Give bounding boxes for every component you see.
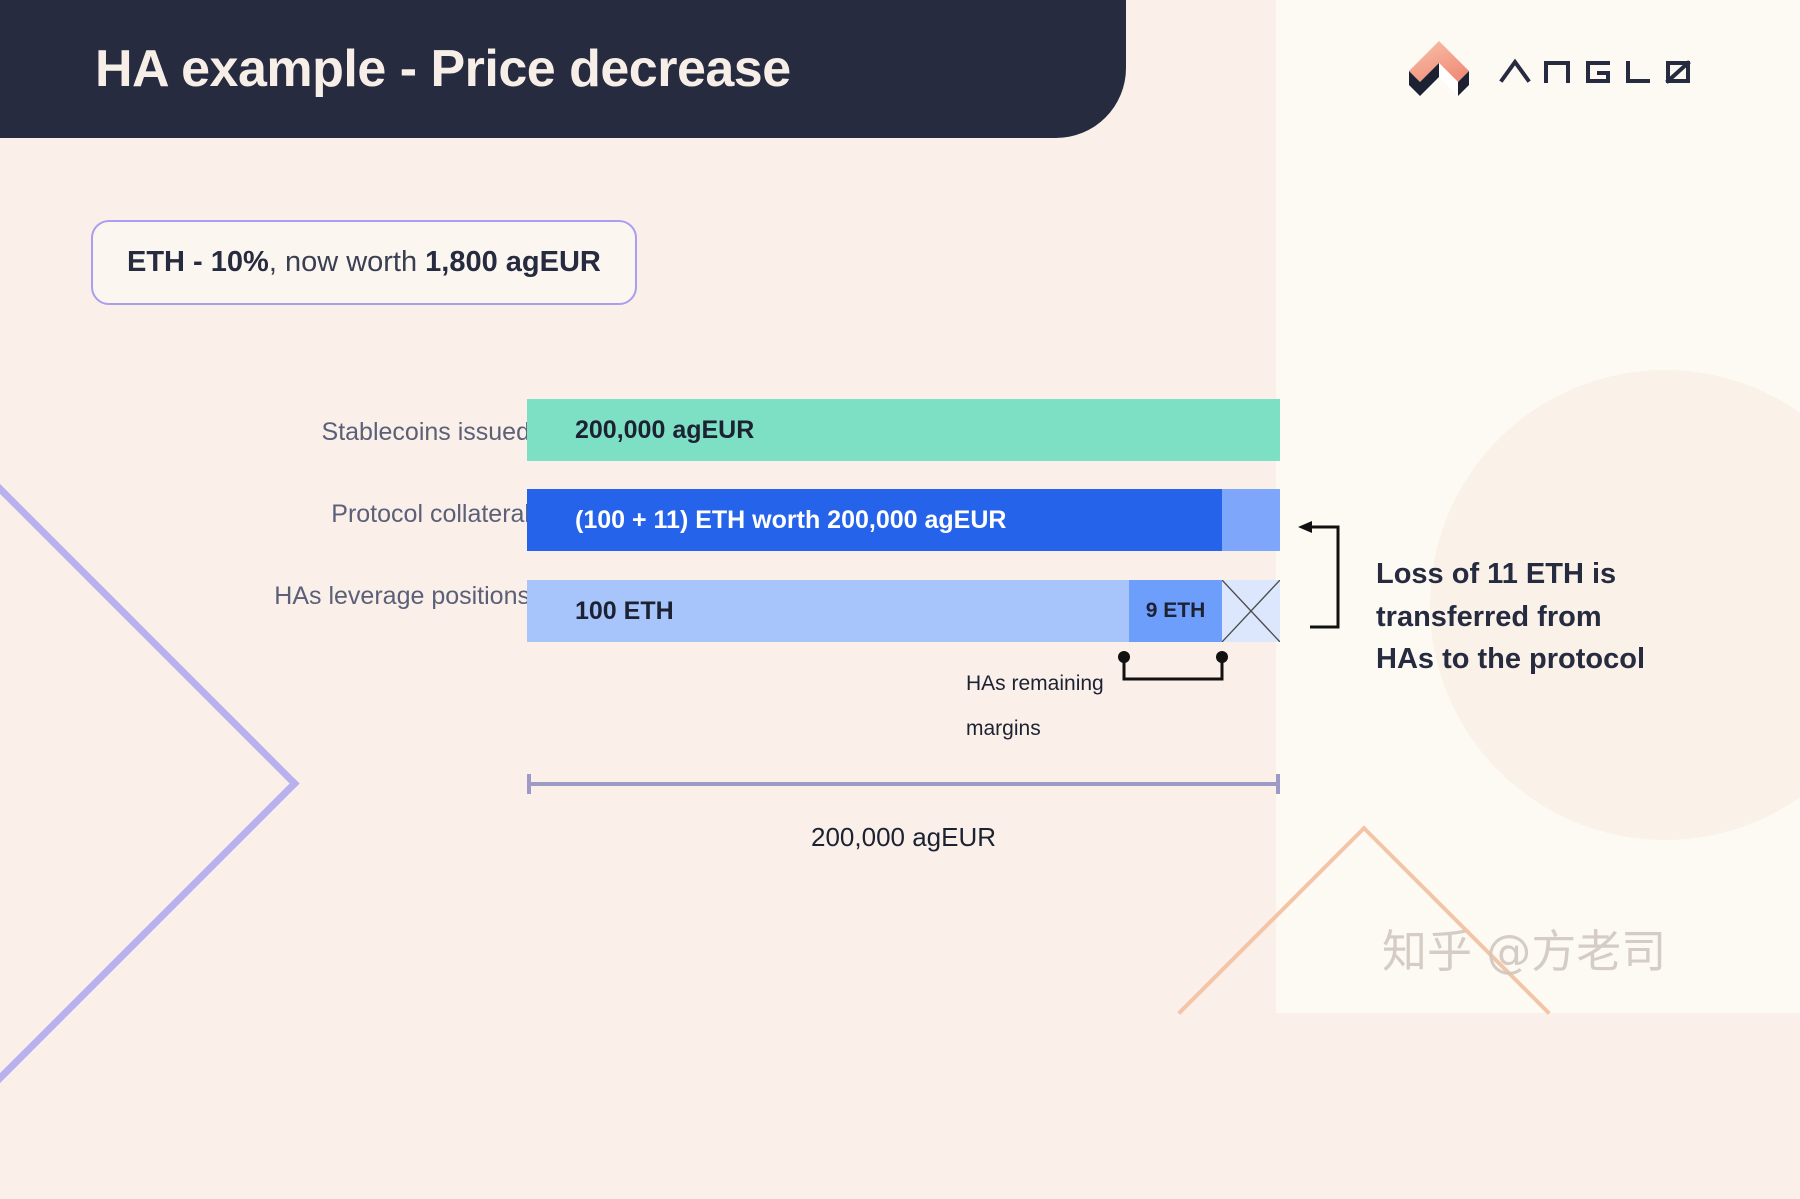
row-label-stablecoins-issued: Stablecoins issued — [200, 418, 530, 447]
annotation-line-1: HAs remaining — [966, 668, 1106, 699]
bar-protocol-collateral: (100 + 11) ETH worth 200,000 agEUR — [527, 489, 1280, 551]
transfer-note-line-3: HAs to the protocol — [1376, 638, 1726, 681]
bar-value-has-leverage-positions: 100 ETH — [575, 597, 674, 626]
transfer-note-line-1: Loss of 11 ETH is — [1376, 553, 1726, 596]
annotation-has-remaining-margins: HAs remaining margins — [966, 668, 1106, 744]
segment-label-9-eth: 9 ETH — [1146, 599, 1206, 623]
bar-has-leverage-positions: 9 ETH 100 ETH — [527, 580, 1280, 642]
annotation-line-2: margins — [966, 713, 1106, 744]
bracket-has-remaining-margins — [1118, 650, 1228, 691]
bar-chart: Stablecoins issued 200,000 agEUR Protoco… — [0, 0, 1800, 1013]
transfer-note-line-2: transferred from — [1376, 596, 1726, 639]
bar-stablecoins-issued: 200,000 agEUR — [527, 399, 1280, 461]
slide-root: HA example - Price decrease — [0, 0, 1800, 1013]
row-label-protocol-collateral: Protocol collateral — [200, 500, 530, 529]
axis-cap-left — [527, 774, 531, 794]
row-label-has-leverage-positions: HAs leverage positions — [200, 582, 530, 611]
bar-value-stablecoins-issued: 200,000 agEUR — [575, 416, 754, 445]
bar-value-protocol-collateral: (100 + 11) ETH worth 200,000 agEUR — [575, 506, 1006, 535]
segment-collateral-gain — [1222, 489, 1280, 551]
axis-cap-right — [1276, 774, 1280, 794]
transfer-note: Loss of 11 ETH is transferred from HAs t… — [1376, 553, 1726, 681]
segment-ha-remaining-margin: 9 ETH — [1129, 580, 1222, 642]
watermark: 知乎 @方老司 — [1382, 915, 1666, 980]
transfer-bracket-arrow-icon — [1292, 517, 1352, 642]
axis-total-line — [527, 782, 1280, 786]
axis-total-label: 200,000 agEUR — [811, 822, 996, 853]
segment-ha-lost-margin — [1222, 580, 1280, 642]
